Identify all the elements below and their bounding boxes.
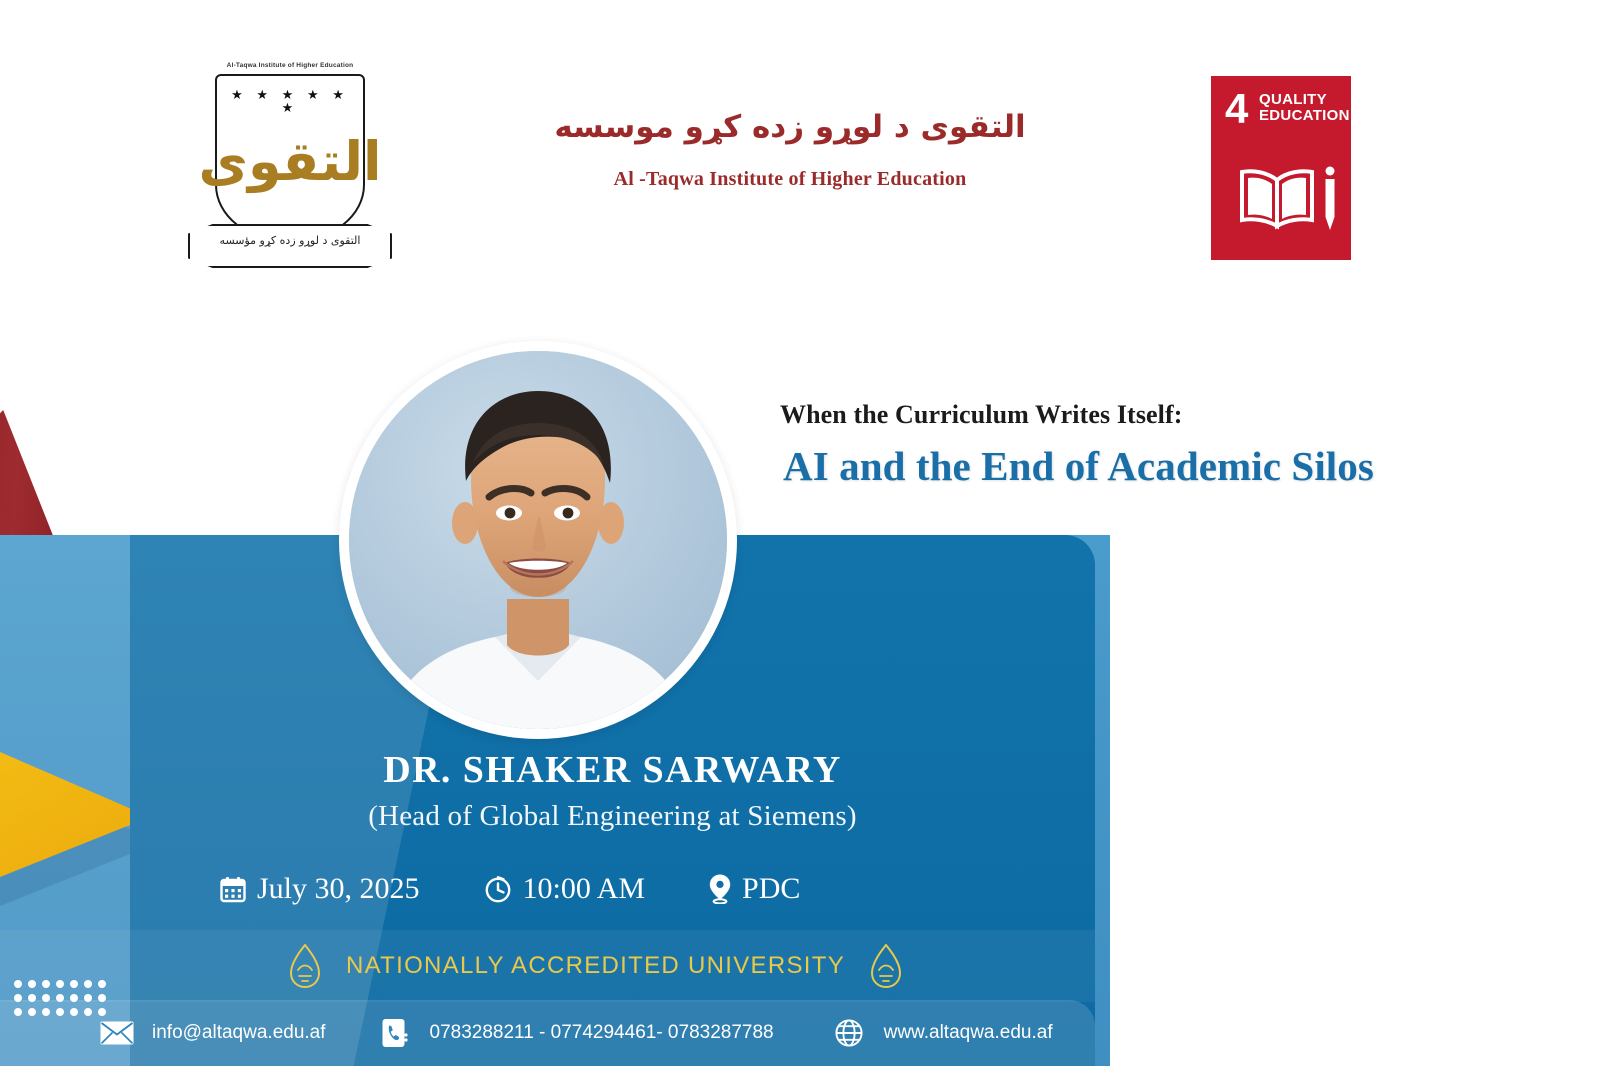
- accreditation-row: NATIONALLY ACCREDITED UNIVERSITY: [290, 944, 901, 988]
- talk-subtitle: When the Curriculum Writes Itself:: [780, 400, 1183, 430]
- dot-grid-decoration: [14, 980, 112, 1022]
- speaker-role: (Head of Global Engineering at Siemens): [130, 800, 1095, 833]
- event-date: July 30, 2025: [220, 872, 420, 906]
- contact-website[interactable]: www.altaqwa.edu.af: [832, 1019, 1053, 1047]
- speaker-name: DR. SHAKER SARWARY: [130, 748, 1095, 792]
- accreditation-text: NATIONALLY ACCREDITED UNIVERSITY: [346, 952, 845, 980]
- sdg-number: 4: [1225, 90, 1248, 128]
- event-poster: Al-Taqwa Institute of Higher Education ★…: [0, 0, 1600, 1066]
- event-time-value: 10:00 AM: [523, 872, 646, 906]
- organization-name-english: Al -Taqwa Institute of Higher Education: [520, 168, 1060, 191]
- ribbon-text: التقوى د لوړو زده کړو مؤسسه: [188, 234, 392, 247]
- logo-top-text: Al-Taqwa Institute of Higher Education: [180, 62, 400, 69]
- event-time: 10:00 AM: [484, 872, 646, 906]
- shield-calligraphy: التقوى: [226, 102, 354, 220]
- envelope-icon: [100, 1019, 134, 1047]
- sdg-label: QUALITY EDUCATION: [1259, 92, 1349, 124]
- sdg-goal-4-badge: 4 QUALITY EDUCATION: [1211, 76, 1351, 260]
- open-book-icon: [1239, 168, 1315, 230]
- talk-title: AI and the End of Academic Silos: [783, 442, 1374, 490]
- contact-website-value: www.altaqwa.edu.af: [884, 1022, 1053, 1044]
- contact-email[interactable]: info@altaqwa.edu.af: [100, 1019, 326, 1047]
- phone-icon: [378, 1019, 412, 1047]
- calendar-icon: [220, 876, 246, 903]
- event-date-value: July 30, 2025: [257, 872, 420, 906]
- gold-ornament-icon-right: [871, 944, 901, 988]
- location-pin-icon: [709, 874, 731, 904]
- contact-email-value: info@altaqwa.edu.af: [152, 1022, 326, 1044]
- speaker-portrait: [349, 351, 727, 729]
- globe-icon: [832, 1019, 866, 1047]
- sdg-label-line1: QUALITY: [1259, 92, 1349, 108]
- institute-logo: Al-Taqwa Institute of Higher Education ★…: [180, 52, 400, 277]
- contact-phone-value: 0783288211 - 0774294461- 0783287788: [430, 1022, 774, 1044]
- event-location: PDC: [709, 872, 800, 906]
- contact-phone[interactable]: 0783288211 - 0774294461- 0783287788: [378, 1019, 774, 1047]
- organization-name-pashto: التقوی د لوړو زده کړو موسسه: [520, 108, 1060, 147]
- pencil-icon: [1323, 166, 1337, 232]
- event-location-value: PDC: [742, 872, 800, 906]
- clock-icon: [484, 875, 512, 903]
- gold-ornament-icon-left: [290, 944, 320, 988]
- event-meta-row: July 30, 2025 10:00 AM PDC: [220, 872, 800, 906]
- sdg-label-line2: EDUCATION: [1259, 108, 1349, 124]
- footer-contacts: info@altaqwa.edu.af 0783288211 - 0774294…: [100, 1000, 1095, 1066]
